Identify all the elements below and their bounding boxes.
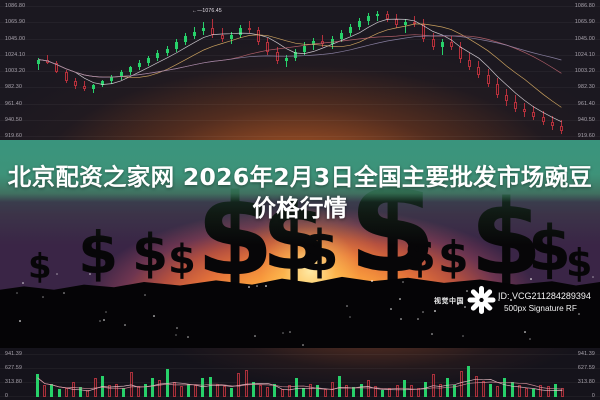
candle-body — [156, 53, 159, 58]
price-axis-label: 1024.10 — [575, 52, 595, 58]
light-particle — [530, 278, 532, 280]
light-particle — [592, 276, 594, 278]
candle-body — [441, 42, 444, 47]
candle-body — [257, 30, 260, 42]
volume-bar — [187, 384, 190, 397]
volume-bar — [561, 388, 564, 397]
candle-body — [422, 24, 425, 40]
candle-body — [221, 35, 224, 40]
light-particle — [99, 320, 101, 322]
light-particle — [402, 281, 404, 283]
volume-bar — [532, 389, 535, 397]
light-particle — [346, 305, 348, 307]
light-particle — [462, 335, 464, 337]
light-particle — [63, 292, 65, 294]
candle-body — [331, 39, 334, 44]
volume-axis-label: 0 — [592, 393, 595, 399]
volume-bar — [302, 388, 305, 397]
volume-axis-label: 941.39 — [5, 351, 22, 357]
volume-bar — [295, 378, 298, 397]
light-particle — [187, 336, 189, 338]
volume-bar — [288, 385, 291, 397]
candle-body — [276, 52, 279, 61]
candle-body — [37, 60, 40, 65]
volume-bar — [309, 384, 312, 397]
moving-average-line — [39, 19, 562, 122]
volume-bar — [273, 384, 276, 397]
candle-body — [285, 58, 288, 61]
candle-body — [266, 42, 269, 51]
price-axis-label: 982.30 — [5, 84, 22, 90]
candle-body — [193, 32, 196, 37]
candle-body — [496, 84, 499, 95]
price-axis-label: 1045.00 — [5, 36, 25, 42]
volume-bar — [432, 374, 435, 397]
candle-body — [129, 67, 132, 72]
volume-bar — [381, 390, 384, 397]
candle-body — [477, 67, 480, 75]
candle-body — [468, 60, 471, 68]
light-particle — [103, 319, 105, 321]
light-particle — [524, 331, 526, 333]
candle-body — [358, 21, 361, 27]
volume-plot — [34, 353, 566, 397]
candle-body — [459, 47, 462, 59]
volume-bar — [252, 382, 255, 397]
light-particle — [175, 334, 177, 336]
volume-bar — [367, 380, 370, 397]
volume-bar — [424, 382, 427, 397]
volume-bar — [518, 385, 521, 398]
volume-bar — [65, 388, 68, 397]
volume-bar — [410, 385, 413, 398]
light-particle — [124, 324, 126, 326]
light-particle — [390, 308, 392, 310]
volume-bar — [223, 386, 226, 397]
volume-bar — [446, 378, 449, 397]
price-axis-label: 919.60 — [5, 133, 22, 139]
candle-body — [367, 16, 370, 21]
price-axis-label: 1003.20 — [5, 68, 25, 74]
candle-body — [294, 52, 297, 58]
volume-bar — [396, 385, 399, 397]
volume-bar — [180, 386, 183, 397]
volume-bar — [194, 385, 197, 398]
watermark-id: ID: VCG211284289394 — [498, 290, 591, 303]
candle-body — [138, 63, 141, 68]
light-particle — [89, 273, 91, 275]
volume-bar — [503, 378, 506, 397]
candle-body — [340, 33, 343, 39]
candle-body — [120, 72, 123, 77]
volume-bar — [266, 387, 269, 397]
volume-bar — [388, 388, 391, 397]
volume-bar — [324, 389, 327, 397]
candle-body — [55, 63, 58, 72]
page-title: 北京配资之家网 2026年2月3日全国主要批发市场豌豆价格行情 — [0, 162, 600, 224]
candle-wick — [405, 19, 406, 33]
volume-bar — [439, 384, 442, 397]
light-particle — [144, 294, 146, 296]
volume-bar — [36, 374, 39, 397]
watermark-brand-cn: 视觉中国 — [434, 296, 464, 306]
light-particle — [153, 315, 155, 317]
volume-bar — [115, 384, 118, 397]
volume-bar — [281, 389, 284, 397]
light-particle — [56, 273, 58, 275]
volume-axis-label: 313.80 — [578, 379, 595, 385]
candle-body — [147, 58, 150, 63]
light-particle — [282, 332, 284, 334]
volume-axis-label: 941.39 — [578, 351, 595, 357]
volume-bar — [86, 390, 89, 397]
candle-body — [312, 41, 315, 46]
price-chart-panel: 1086.801065.901045.001024.101003.20982.3… — [0, 0, 600, 150]
volume-bar — [482, 381, 485, 397]
candle-body — [166, 49, 169, 54]
watermark: 视觉中国 ID: VCG211284289394 500px Signature… — [434, 282, 594, 326]
volume-bar — [201, 378, 204, 397]
candlestick-plot — [34, 0, 566, 150]
candle-body — [514, 102, 517, 110]
price-axis-label: 1086.80 — [575, 3, 595, 9]
volume-bar — [43, 385, 46, 397]
price-axis-label: 1086.80 — [5, 3, 25, 9]
volume-bar — [50, 384, 53, 397]
volume-bar — [108, 385, 111, 397]
candle-body — [175, 42, 178, 48]
candle-body — [83, 86, 86, 89]
price-axis-label: 961.40 — [578, 101, 595, 107]
candle-body — [413, 22, 416, 24]
light-particle — [105, 311, 107, 313]
volume-bar — [137, 386, 140, 397]
volume-bar — [130, 372, 133, 397]
volume-axis-label: 313.80 — [5, 379, 22, 385]
volume-bar — [259, 385, 262, 398]
volume-bar — [460, 371, 463, 397]
price-axis-label: 961.40 — [5, 101, 22, 107]
candle-body — [65, 72, 68, 81]
volume-bar — [496, 386, 499, 397]
candle-body — [184, 36, 187, 42]
volume-bar — [511, 382, 514, 397]
flower-burst-icon — [466, 285, 496, 315]
volume-bar — [338, 376, 341, 397]
candle-wick — [286, 55, 287, 67]
candle-body — [92, 85, 95, 89]
volume-bar — [345, 385, 348, 397]
volume-bar — [151, 378, 154, 397]
light-particle — [400, 318, 402, 320]
volume-bar — [467, 366, 470, 397]
candle-body — [376, 14, 379, 16]
price-axis-label: 1003.20 — [575, 68, 595, 74]
volume-bar — [216, 384, 219, 397]
volume-bar — [554, 384, 557, 397]
light-particle — [302, 344, 304, 346]
volume-axis-label: 627.59 — [578, 365, 595, 371]
candle-body — [101, 81, 104, 85]
volume-bar — [94, 378, 97, 397]
candle-body — [560, 126, 563, 131]
candle-body — [450, 42, 453, 47]
candle-body — [230, 35, 233, 40]
moving-average-line — [39, 36, 562, 78]
volume-bar — [245, 370, 248, 397]
candle-body — [321, 41, 324, 44]
volume-average-overlay — [34, 353, 566, 397]
light-particle — [42, 296, 44, 298]
light-particle — [176, 327, 178, 329]
candle-body — [110, 77, 113, 82]
price-axis-label: 1065.90 — [575, 19, 595, 25]
watermark-text: ID: VCG211284289394 500px Signature RF — [498, 290, 591, 315]
volume-bar — [209, 377, 212, 398]
volume-bar — [58, 389, 61, 397]
candle-body — [46, 60, 49, 63]
light-particle — [529, 338, 531, 340]
price-axis-label: 940.50 — [578, 117, 595, 123]
volume-bar — [316, 385, 319, 397]
price-axis-label: 940.50 — [5, 117, 22, 123]
light-particle — [417, 318, 419, 320]
candle-body — [487, 75, 490, 84]
volume-chart-panel: 941.39627.59313.800 941.39627.59313.800 — [0, 348, 600, 400]
candle-body — [349, 27, 352, 33]
volume-bar — [166, 369, 169, 397]
light-particle — [16, 292, 18, 294]
volume-bar — [237, 373, 240, 397]
candle-body — [211, 28, 214, 34]
candle-body — [404, 22, 407, 25]
volume-axis-label: 627.59 — [5, 365, 22, 371]
candle-body — [248, 28, 251, 30]
volume-bar — [403, 380, 406, 397]
candle-body — [542, 117, 545, 122]
volume-bar — [547, 386, 550, 397]
moving-average-line — [39, 35, 562, 77]
candle-wick — [249, 21, 250, 33]
moving-average-line — [39, 24, 562, 107]
candle-body — [395, 19, 398, 25]
price-axis-label: 919.60 — [578, 133, 595, 139]
volume-bar — [525, 388, 528, 397]
volume-bar — [453, 385, 456, 397]
light-particle — [265, 285, 267, 287]
candle-body — [523, 109, 526, 112]
volume-bar — [360, 384, 363, 397]
light-particle — [248, 286, 250, 288]
light-particle — [289, 331, 291, 333]
light-particle — [422, 311, 424, 313]
volume-axis-label: 0 — [5, 393, 8, 399]
volume-bar — [79, 387, 82, 397]
volume-bar — [489, 384, 492, 397]
candle-body — [532, 112, 535, 117]
volume-bar — [230, 388, 233, 397]
watermark-license: 500px Signature RF — [498, 303, 591, 315]
light-particle — [254, 335, 256, 337]
price-annotation: ←—1076.45 — [192, 8, 222, 14]
light-particle — [371, 280, 373, 282]
candle-body — [551, 122, 554, 127]
light-particle — [19, 320, 21, 322]
price-axis-label: 1045.00 — [575, 36, 595, 42]
candle-body — [303, 46, 306, 52]
candle-body — [386, 14, 389, 19]
screenshot-stage: 1086.801065.901045.001024.101003.20982.3… — [0, 0, 600, 400]
candle-body — [74, 81, 77, 86]
volume-bar — [72, 382, 75, 397]
volume-bar — [539, 385, 542, 397]
light-particle — [431, 333, 433, 335]
volume-bar — [417, 388, 420, 397]
volume-bar — [331, 382, 334, 397]
price-axis-label: 982.30 — [578, 84, 595, 90]
light-particle — [256, 285, 258, 287]
volume-bar — [158, 380, 161, 397]
light-particle — [399, 298, 401, 300]
light-particle — [349, 316, 351, 318]
volume-bar — [374, 386, 377, 397]
volume-bar — [475, 376, 478, 397]
candle-body — [505, 95, 508, 101]
light-particle — [22, 282, 24, 284]
price-axis-label: 1065.90 — [5, 19, 25, 25]
volume-bar — [101, 376, 104, 397]
volume-bar — [122, 388, 125, 397]
volume-bar — [173, 382, 176, 397]
volume-bar — [144, 384, 147, 397]
volume-bar — [352, 387, 355, 397]
candle-body — [432, 39, 435, 47]
price-axis-label: 1024.10 — [5, 52, 25, 58]
candle-body — [239, 28, 242, 34]
candle-body — [202, 28, 205, 31]
